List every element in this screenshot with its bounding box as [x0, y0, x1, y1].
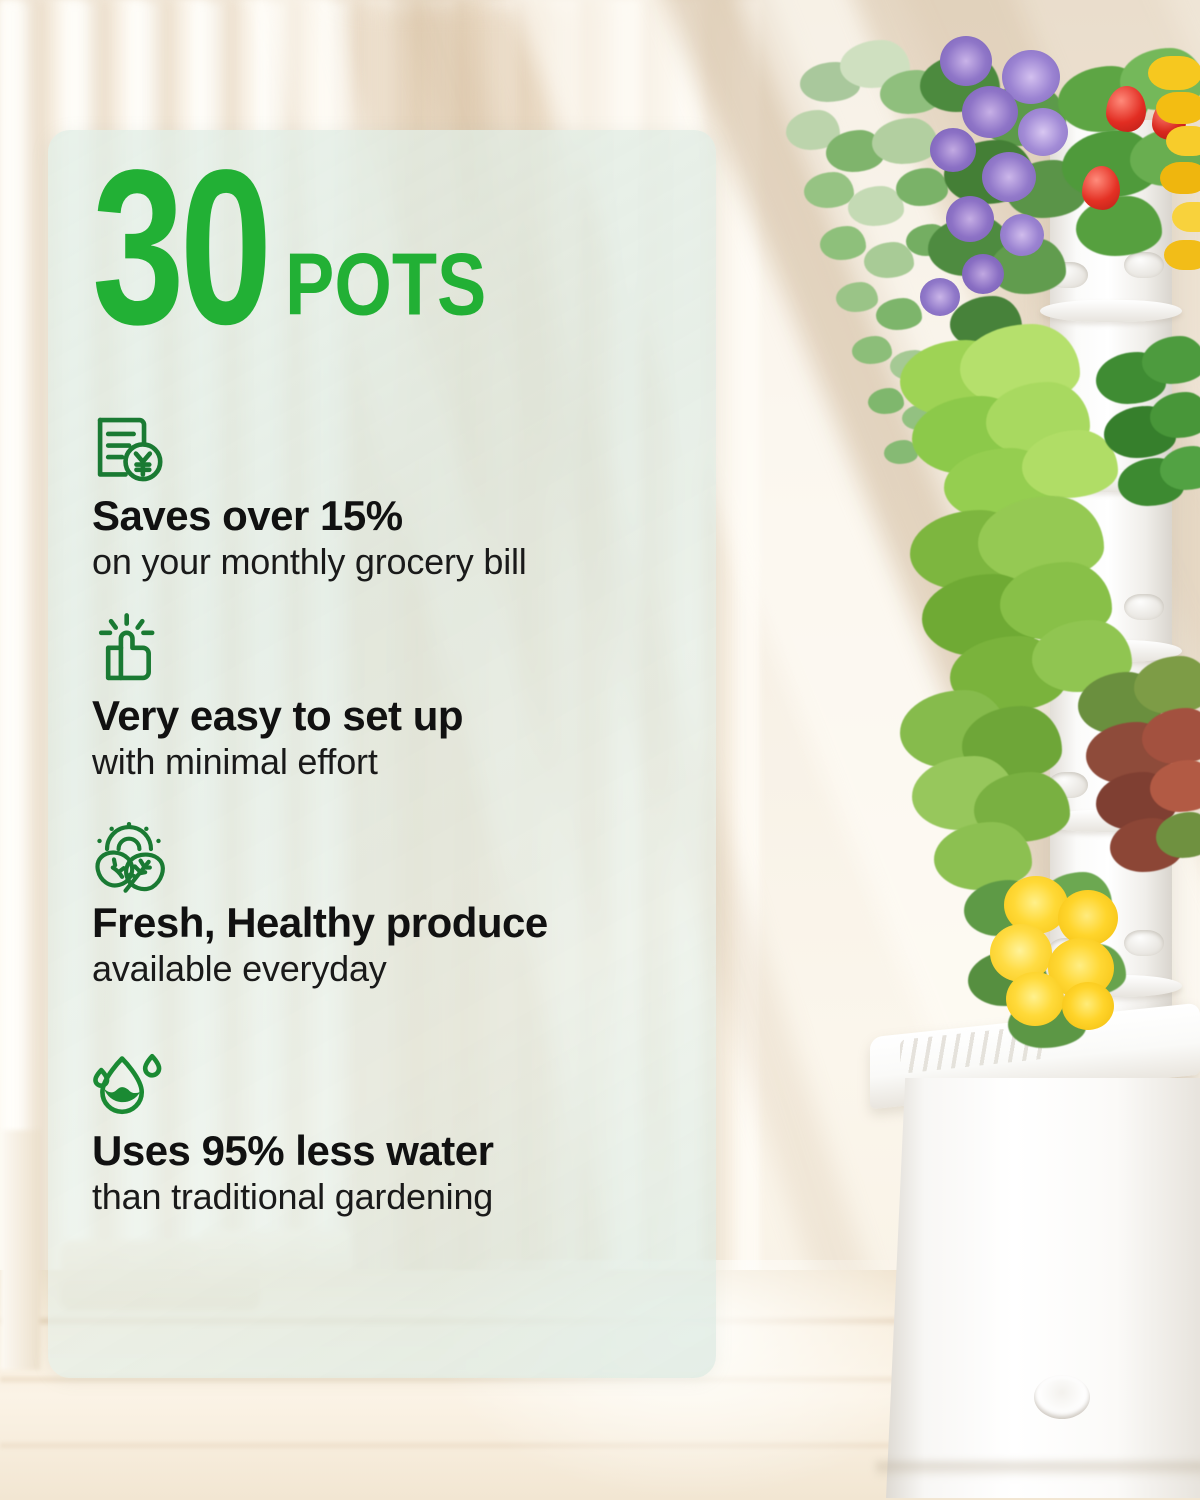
plant-pod [1124, 252, 1164, 278]
feature-title: Uses 95% less water [92, 1127, 672, 1174]
thumbs-up-icon [92, 612, 166, 686]
headline-number: 30 [92, 158, 267, 339]
tower-reservoir [886, 1078, 1200, 1498]
benefits-panel: 30 POTS [48, 130, 716, 1378]
tower-ground-shadow [876, 1462, 1200, 1478]
wall-post-left [0, 1130, 40, 1370]
feature-list: Saves over 15% on your monthly grocery b… [92, 412, 672, 1218]
water-drop-icon [92, 1047, 166, 1121]
plant-pod [1124, 930, 1164, 956]
feature-item: Very easy to set up with minimal effort [92, 612, 672, 784]
receipt-yen-icon [92, 412, 166, 486]
feature-subtitle: available everyday [92, 948, 672, 990]
headline-unit: POTS [285, 241, 486, 329]
feature-subtitle: with minimal effort [92, 741, 672, 783]
feature-subtitle: on your monthly grocery bill [92, 541, 672, 583]
feature-item: Fresh, Healthy produce available everyda… [92, 819, 672, 991]
tower-tier-ring [1040, 300, 1182, 322]
plant-pod [1124, 594, 1164, 620]
feature-subtitle: than traditional gardening [92, 1176, 672, 1218]
leaves-sun-icon [92, 819, 166, 893]
feature-title: Very easy to set up [92, 692, 672, 739]
headline: 30 POTS [92, 168, 520, 339]
feature-title: Saves over 15% [92, 492, 672, 539]
reservoir-drain-hole [1034, 1375, 1090, 1419]
feature-title: Fresh, Healthy produce [92, 899, 672, 946]
feature-item: Uses 95% less water than traditional gar… [92, 1047, 672, 1219]
feature-item: Saves over 15% on your monthly grocery b… [92, 412, 672, 584]
